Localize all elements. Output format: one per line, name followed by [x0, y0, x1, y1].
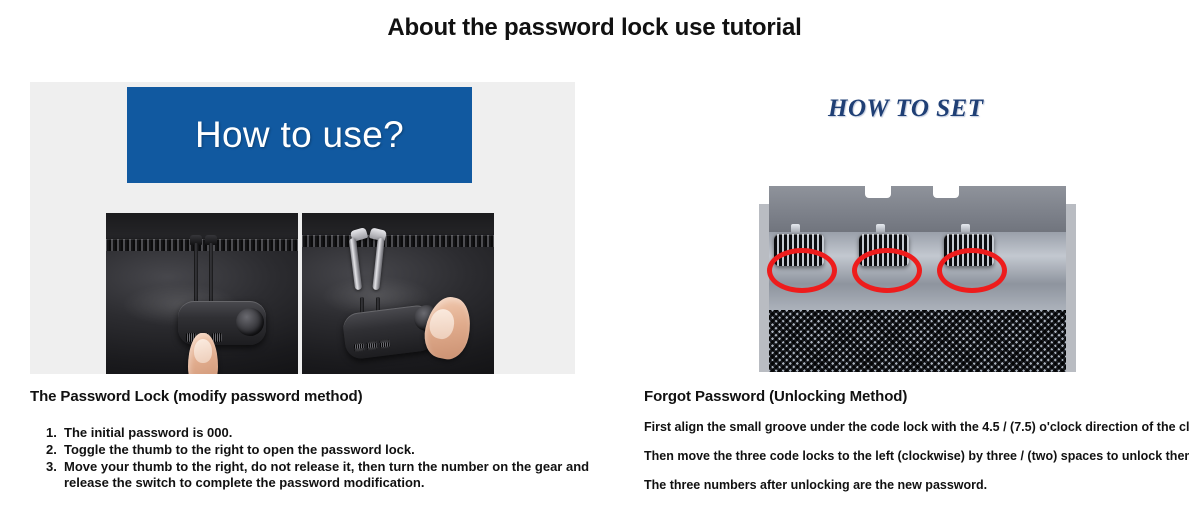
- casing-notch: [865, 185, 891, 198]
- photo-lock-open: [302, 213, 494, 374]
- left-caption-block: The Password Lock (modify password metho…: [30, 388, 590, 492]
- zipper-pull-tab-right: [209, 243, 213, 305]
- mesh-fabric: [769, 310, 1067, 372]
- casing-notch: [933, 185, 959, 198]
- right-caption-heading: Forgot Password (Unlocking Method): [644, 388, 1189, 405]
- list-item-text: Toggle the thumb to the right to open th…: [64, 442, 415, 457]
- annotation-circle-dial-2: [852, 248, 922, 293]
- how-to-use-banner-label: How to use?: [195, 114, 404, 156]
- instruction-line: The three numbers after unlocking are th…: [644, 478, 1189, 493]
- lock-dial: [354, 342, 365, 352]
- instruction-line: First align the small groove under the c…: [644, 420, 1189, 435]
- list-item: 1. The initial password is 000.: [46, 425, 590, 441]
- lock-dial: [212, 333, 222, 342]
- annotation-circle-dial-3: [937, 248, 1007, 293]
- lock-casing: [769, 186, 1067, 236]
- annotation-circle-dial-1: [767, 248, 837, 293]
- lock-dial: [366, 340, 377, 350]
- left-section: How to use?: [30, 82, 575, 374]
- list-item-number: 1.: [46, 425, 57, 441]
- list-item: 3. Move your thumb to the right, do not …: [46, 459, 590, 491]
- how-to-set-heading: HOW TO SET: [828, 95, 984, 123]
- list-item-number: 2.: [46, 442, 57, 458]
- left-gray-panel: How to use?: [30, 82, 575, 374]
- left-caption-heading: The Password Lock (modify password metho…: [30, 388, 590, 405]
- page-title: About the password lock use tutorial: [0, 14, 1189, 42]
- left-photo-row: [106, 213, 498, 374]
- photo-code-lock-dials: [759, 172, 1076, 372]
- list-item: 2. Toggle the thumb to the right to open…: [46, 442, 590, 458]
- instruction-line: Then move the three code locks to the le…: [644, 449, 1189, 464]
- unlocking-instructions: First align the small groove under the c…: [644, 420, 1189, 493]
- password-modify-steps: 1. The initial password is 000. 2. Toggl…: [30, 425, 590, 491]
- zipper-pull-tab-left: [194, 243, 198, 305]
- photo-lock-closed: [106, 213, 298, 374]
- list-item-text: The initial password is 000.: [64, 425, 232, 440]
- lock-shackle-slot-left: [360, 297, 364, 313]
- list-item-number: 3.: [46, 459, 57, 475]
- list-item-text: Move your thumb to the right, do not rel…: [64, 459, 589, 490]
- lock-dial: [379, 339, 390, 349]
- thumbnail: [194, 339, 212, 363]
- how-to-use-banner: How to use?: [127, 87, 472, 183]
- lock-side-wheel: [236, 308, 264, 336]
- right-caption-block: Forgot Password (Unlocking Method) First…: [644, 388, 1189, 507]
